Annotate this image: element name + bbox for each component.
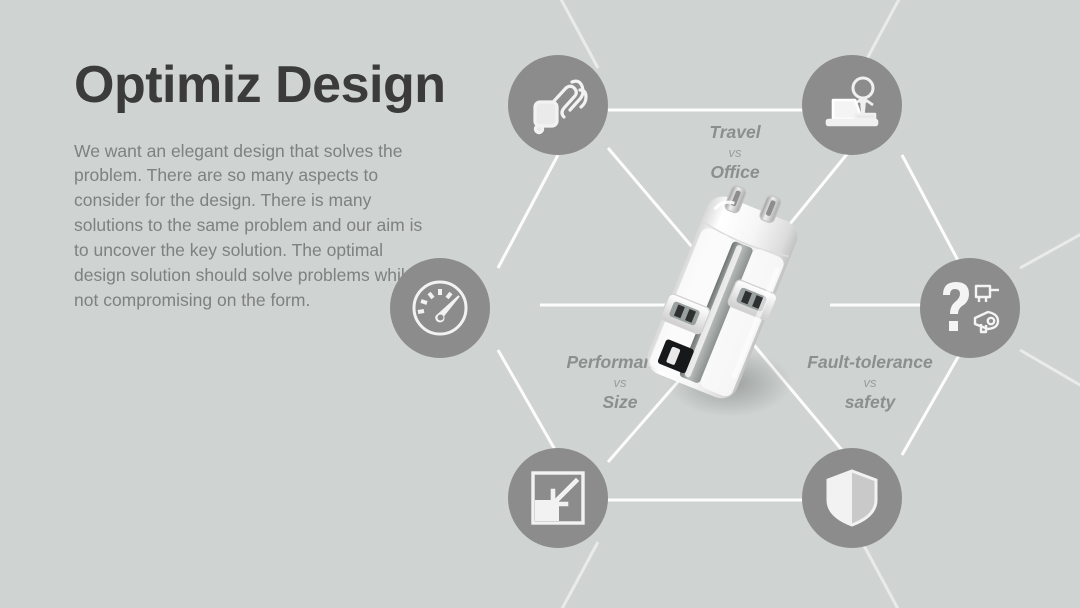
question-plug-dryer-icon <box>937 277 1003 339</box>
node-performance[interactable] <box>390 258 490 358</box>
label-travel-vs-office: Travel vs Office <box>635 122 835 184</box>
body-paragraph: We want an elegant design that solves th… <box>74 139 434 313</box>
page-title: Optimiz Design <box>74 58 454 113</box>
text-column: Optimiz Design We want an elegant design… <box>74 58 454 313</box>
label-term-top: Travel <box>635 122 835 143</box>
node-fault-tolerance[interactable] <box>920 258 1020 358</box>
node-travel[interactable] <box>508 55 608 155</box>
hexagon-diagram: Travel vs Office Fault-tolerance vs safe… <box>430 0 1080 608</box>
speedometer-icon <box>409 277 471 339</box>
travel-power-adapter-photo <box>630 178 810 428</box>
slide-canvas: Optimiz Design We want an elegant design… <box>0 0 1080 608</box>
shield-icon <box>824 468 880 528</box>
node-size[interactable] <box>508 448 608 548</box>
label-vs-word: vs <box>635 143 835 162</box>
node-safety[interactable] <box>802 448 902 548</box>
suitcase-hand-icon <box>527 74 589 136</box>
resize-arrow-icon <box>530 470 586 526</box>
